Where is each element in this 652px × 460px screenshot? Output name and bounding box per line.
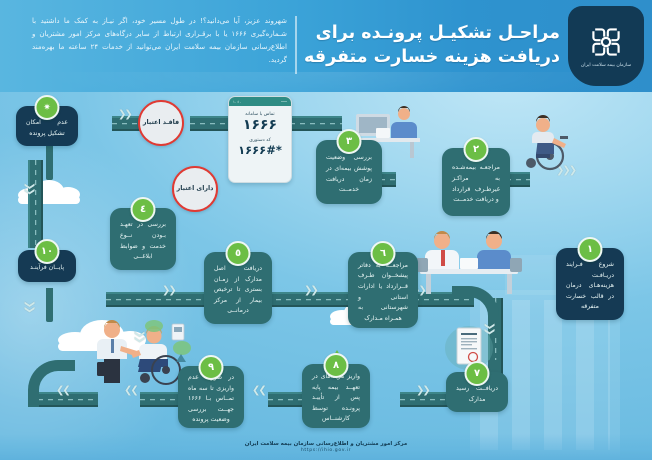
footer-url[interactable]: https://ihio.gov.ir	[301, 448, 351, 453]
phone-illustration: ••• ۱۰:۱۰ تماس با سامانه ۱۶۶۶ کد دستوری …	[228, 96, 292, 183]
step-label-2: مراجعـه بیمه‌شـده به مراکـز غیرطـرف قرار…	[448, 163, 504, 206]
road-4-to-5	[106, 292, 204, 307]
infographic-canvas: سازمان بیمه سلامت ایران مراحـل تشکیـل پر…	[0, 0, 652, 460]
page-header: سازمان بیمه سلامت ایران مراحـل تشکیـل پر…	[0, 0, 652, 92]
step-node-10[interactable]: ۱۰ پایــان فرآینـد	[18, 250, 76, 282]
status-badge-valid[interactable]: دارای اعتبار	[172, 166, 218, 212]
chevron-up-icon-2: ❮❮	[24, 182, 34, 193]
step-badge-3: ۳	[337, 129, 362, 154]
step-node-4[interactable]: ٤ بررسی در تعهـد بـودن نــوع خدمت و ضواب…	[110, 208, 176, 270]
step-label-1: شروع فـرایند دریـافـت هزینه‌هـای درمان د…	[562, 260, 618, 313]
header-divider	[295, 16, 297, 74]
phone-status-bar: ••• ۱۰:۱۰	[229, 97, 291, 106]
phone-screen: تماس با سامانه ۱۶۶۶ کد دستوری *۱۶۶۶#	[229, 106, 291, 163]
step-label-3: بررسی وضعیت پوشش بیمه‌ای در زمان دریافت …	[322, 153, 376, 196]
step-node-8[interactable]: ۸ واریز هزینه‌های در تعهــد بیمه پایه پس…	[302, 364, 370, 428]
step-badge-2: ۲	[464, 137, 489, 162]
step-badge-6: ٦	[371, 241, 396, 266]
step-node-1[interactable]: ۱ شروع فـرایند دریـافـت هزینه‌هـای درمان…	[556, 248, 624, 320]
step-label-6: مراجعــه به دفاتر پیشخــوان طـرف قــرارد…	[354, 261, 412, 325]
page-title: مراحـل تشکیـل پرونـده برای دریافت هزینه …	[302, 9, 560, 83]
phone-ussd-code: *۱۶۶۶#	[233, 144, 287, 157]
step-node-9[interactable]: ۹ در صورت عدم واریزی تا سه ماه تمــاس بـ…	[178, 366, 244, 428]
step-badge-7: ۷	[465, 361, 490, 386]
step-badge-1: ۱	[578, 237, 603, 262]
phone-status-left: •••	[281, 100, 287, 104]
status-badge-invalid-label: فاقـد اعتبار	[143, 118, 179, 127]
page-title-line-1: مراحـل تشکیـل پرونـده برای	[302, 24, 560, 44]
meeting-desk-illustration	[414, 228, 524, 298]
chevron-left-icon-9: ❮❮	[162, 286, 175, 296]
status-badge-valid-label: دارای اعتبار	[177, 184, 214, 193]
shield-emblem-icon	[588, 24, 624, 60]
step-label-9: در صورت عدم واریزی تا سه ماه تمــاس بـا …	[184, 373, 238, 426]
step-node-7[interactable]: ۷ دریافــت رسید مدارک	[446, 372, 508, 412]
step-node-5[interactable]: ٥ دریافت اصل مدارک از زمـان بستری تا ترخ…	[204, 252, 272, 324]
header-intro-text: شهروند عزیز، آیا می‌دانید؟! در طول مسیر …	[32, 14, 287, 66]
no-file-node[interactable]: ✷ عدم امکان تشکیل پرونده	[16, 106, 78, 146]
star-badge-icon: ✷	[35, 95, 60, 120]
step-badge-10: ۱۰	[35, 239, 60, 264]
road-left-vertical	[28, 160, 43, 248]
step-badge-5: ٥	[226, 241, 251, 266]
chevron-up-icon-1: ❮❮	[24, 300, 34, 311]
step-label-4: بررسی در تعهـد بـودن نــوع خدمت و ضوابط …	[116, 220, 170, 263]
chevron-right-icon-2: ❯❯	[252, 386, 265, 396]
phone-call-number: ۱۶۶۶	[233, 118, 287, 133]
page-title-line-2: دریافت هزینه خسارت متفرقه	[302, 48, 560, 68]
step-node-6[interactable]: ٦ مراجعــه به دفاتر پیشخــوان طـرف قــرا…	[348, 252, 418, 328]
step-badge-8: ۸	[324, 353, 349, 378]
step-post-10	[46, 288, 53, 322]
footer-org: مرکز امور مشتریان و اطلاع‌رسانی سازمان ب…	[245, 441, 407, 447]
wheelchair-person-illustration	[512, 108, 582, 172]
step-label-7: دریافــت رسید مدارک	[452, 384, 502, 405]
step-node-3[interactable]: ۳ بررسی وضعیت پوشش بیمه‌ای در زمان دریاف…	[316, 140, 382, 204]
phone-status-right: ۱۰:۱۰	[233, 100, 241, 104]
organization-logo: سازمان بیمه سلامت ایران	[568, 6, 644, 86]
status-badge-invalid[interactable]: فاقـد اعتبار	[138, 100, 184, 146]
page-footer: مرکز امور مشتریان و اطلاع‌رسانی سازمان ب…	[0, 434, 652, 460]
no-file-label: عدم امکان تشکیل پرونده	[22, 118, 72, 139]
chevron-right-icon-4: ❯❯	[56, 386, 69, 396]
logo-caption: سازمان بیمه سلامت ایران	[581, 63, 631, 68]
chevron-left-icon-10: ❮❮	[416, 386, 429, 396]
step-node-2[interactable]: ۲ مراجعـه بیمه‌شـده به مراکـز غیرطـرف قر…	[442, 148, 510, 216]
step-label-8: واریز هزینه‌های در تعهــد بیمه پایه پس ا…	[308, 372, 364, 425]
chevron-left-icon-5: ❮❮	[118, 110, 131, 120]
no-file-post	[46, 146, 53, 180]
step-label-10: پایــان فرآینـد	[24, 263, 70, 274]
step-badge-9: ۹	[199, 355, 224, 380]
step-label-5: دریافت اصل مدارک از زمـان بستری تا ترخیص…	[210, 264, 266, 317]
step-badge-4: ٤	[131, 197, 156, 222]
chevron-left-icon-6: ❮❮	[304, 286, 317, 296]
